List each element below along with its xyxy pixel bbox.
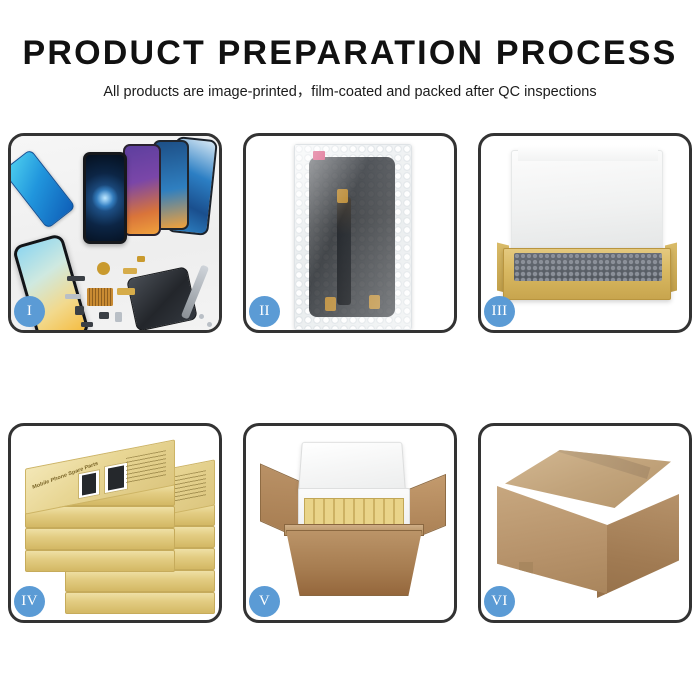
- panel-1-image: [11, 136, 219, 330]
- panel-badge-5: V: [249, 586, 280, 617]
- spare-part: [115, 312, 122, 322]
- process-panel-1: I: [8, 133, 222, 333]
- page-subtitle: All products are image-printed，film-coat…: [0, 85, 700, 100]
- connector-tab: [369, 295, 380, 309]
- grey-foam-padding: [514, 253, 662, 281]
- carton-side-face: [597, 494, 679, 598]
- panel-badge-6: VI: [484, 586, 515, 617]
- pink-qc-sticker: [313, 151, 325, 160]
- spare-part: [137, 256, 145, 262]
- packing-tape: [548, 437, 651, 479]
- panel-badge-4: IV: [14, 586, 45, 617]
- process-panel-3: III: [478, 133, 692, 333]
- white-foam-sheet: [511, 150, 663, 256]
- box-window-screen: [108, 465, 124, 490]
- spare-part: [97, 262, 110, 275]
- panel-badge-1: I: [14, 296, 45, 327]
- phone-black-frame-screen: [83, 152, 127, 244]
- stacked-box: [25, 550, 175, 572]
- spare-part: [123, 268, 137, 274]
- foam-lid: [298, 442, 406, 492]
- panel-3-image: [481, 136, 689, 330]
- spare-part: [65, 294, 81, 299]
- spare-part: [199, 314, 204, 319]
- connector-tab: [325, 297, 336, 311]
- spare-part: [67, 276, 85, 281]
- screen-assembly: [309, 157, 395, 317]
- page-header: PRODUCT PREPARATION PROCESS All products…: [0, 0, 700, 100]
- process-panel-2: II: [243, 133, 457, 333]
- stacked-box: [25, 528, 175, 550]
- spare-part: [117, 288, 135, 295]
- product-preparation-process-page: PRODUCT PREPARATION PROCESS All products…: [0, 0, 700, 700]
- page-title: PRODUCT PREPARATION PROCESS: [0, 36, 700, 70]
- spare-part: [87, 288, 113, 306]
- process-panel-4: Mobile Phone Spare Parts Mobile Phone Sp…: [8, 423, 222, 623]
- panel-5-image: [246, 426, 454, 620]
- flex-cable: [337, 197, 351, 305]
- box-stack: Mobile Phone Spare Parts Mobile Phone Sp…: [19, 444, 215, 614]
- box-window-screen: [82, 473, 96, 496]
- panel-2-image: [246, 136, 454, 330]
- process-panel-6: VI: [478, 423, 692, 623]
- bubble-wrap-pouch: [294, 144, 412, 330]
- process-panel-grid: I II: [8, 133, 692, 623]
- spare-part: [99, 312, 109, 319]
- spare-part: [207, 322, 212, 327]
- spare-part: [75, 306, 84, 315]
- connector-tab: [337, 189, 348, 203]
- spare-part: [81, 322, 93, 327]
- carton-mark: [519, 562, 533, 578]
- panel-badge-2: II: [249, 296, 280, 327]
- stacked-box: [65, 592, 215, 614]
- carton-mark: [523, 618, 536, 620]
- box-spec-lines: [126, 450, 166, 484]
- sealed-carton: [497, 450, 679, 600]
- phone-purple-orange: [123, 144, 161, 236]
- carton-body: [286, 530, 422, 596]
- panel-6-image: [481, 426, 689, 620]
- gold-box-tray: [503, 248, 671, 300]
- process-panel-5: V: [243, 423, 457, 623]
- panel-badge-3: III: [484, 296, 515, 327]
- stacked-box: [65, 570, 215, 592]
- panel-4-image: Mobile Phone Spare Parts Mobile Phone Sp…: [11, 426, 219, 620]
